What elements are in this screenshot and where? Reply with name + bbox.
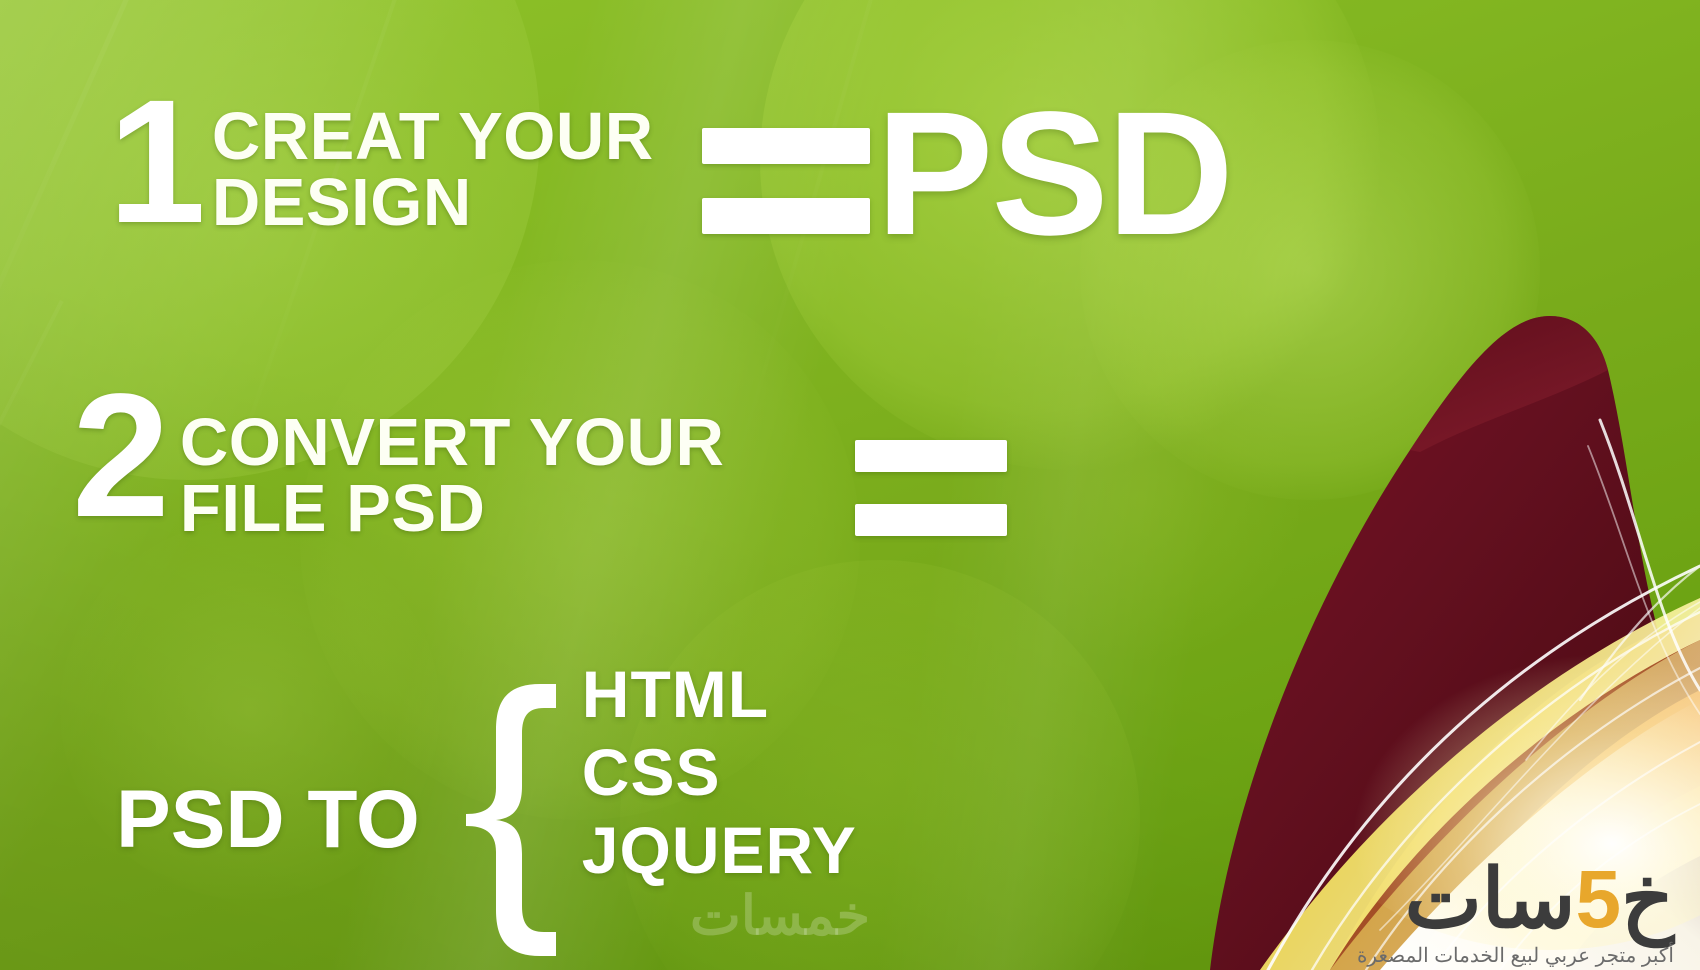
tech-item-html: HTML — [582, 661, 857, 727]
step-2-line2: FILE PSD — [180, 476, 725, 542]
step-1-line2: DESIGN — [212, 170, 654, 236]
step-1-caption: CREAT YOUR DESIGN — [212, 104, 654, 235]
khamsat-wordmark: خ5سات — [1405, 859, 1674, 941]
step-2-line1: CONVERT YOUR — [180, 405, 725, 480]
khamsat-digit-five: 5 — [1575, 854, 1621, 945]
tech-item-jquery: JQUERY — [582, 817, 857, 883]
khamsat-logo: خ5سات أكبر متجر عربي لبيع الخدمات المصغر… — [1357, 859, 1674, 968]
step-2-caption: CONVERT YOUR FILE PSD — [180, 410, 725, 541]
khamsat-tagline: أكبر متجر عربي لبيع الخدمات المصغرة — [1357, 943, 1674, 968]
equals-sign-1 — [702, 128, 870, 234]
khamsat-letter-kha: خ — [1621, 854, 1674, 945]
step-1-line1: CREAT YOUR — [212, 99, 654, 174]
khamsat-letters-sat: سات — [1405, 854, 1576, 945]
equals-bar-bottom — [702, 198, 870, 234]
equals-bar-bottom — [855, 504, 1007, 536]
equals-bar-top — [702, 128, 870, 164]
step-1: 1 CREAT YOUR DESIGN — [108, 88, 654, 235]
psd-wordmark: PSD — [876, 86, 1232, 262]
promo-banner: 1 CREAT YOUR DESIGN PSD 2 CONVERT YOUR F… — [0, 0, 1700, 970]
technology-list: HTML CSS JQUERY — [582, 661, 857, 883]
curly-brace-icon — [440, 684, 556, 956]
step-1-number: 1 — [108, 90, 204, 234]
watermark-text: خمسات — [690, 884, 870, 947]
step-2: 2 CONVERT YOUR FILE PSD — [72, 382, 724, 541]
tech-item-css: CSS — [582, 739, 857, 805]
psd-to-label: PSD TO — [116, 773, 420, 867]
step-2-number: 2 — [72, 384, 168, 528]
equals-bar-top — [855, 440, 1007, 472]
equals-sign-2 — [855, 440, 1007, 536]
